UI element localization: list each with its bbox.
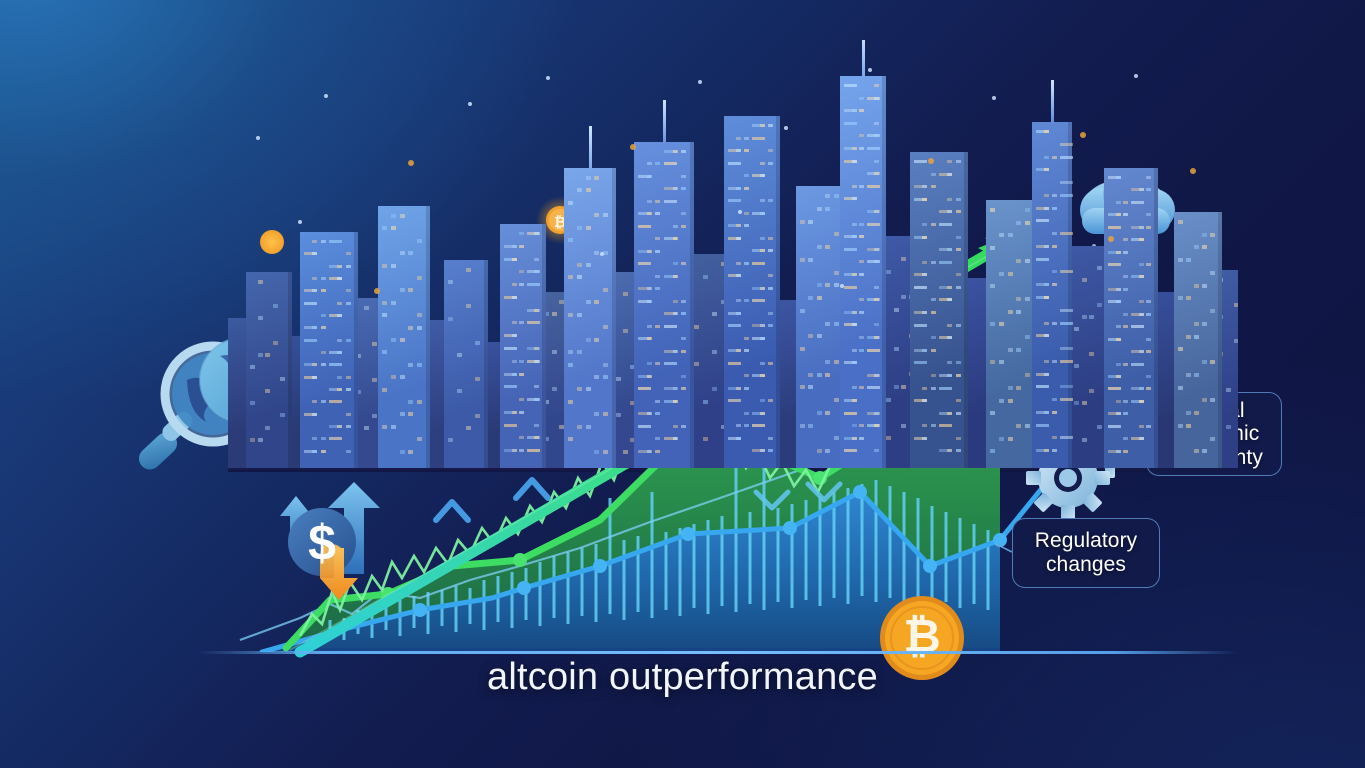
building-window [1044, 194, 1049, 197]
callout-regulatory-changes[interactable]: Regulatory changes [1012, 518, 1160, 588]
building-window [372, 414, 377, 418]
building-window [265, 353, 270, 357]
building-window [894, 308, 899, 312]
building-window [931, 298, 936, 301]
building-window [1108, 425, 1121, 428]
building-window [647, 162, 652, 165]
building-window [834, 436, 839, 440]
building-window [728, 162, 741, 165]
building-window [825, 373, 830, 377]
building-window [512, 360, 517, 363]
building-window [752, 137, 765, 140]
building-spire [663, 100, 666, 144]
building-window [586, 263, 591, 267]
building-window [736, 149, 741, 152]
building-window [1139, 263, 1144, 266]
building-window [859, 424, 864, 427]
building-window [568, 275, 573, 279]
building-window [1194, 322, 1199, 326]
building-window [760, 412, 765, 415]
building-window [947, 324, 952, 327]
building-window [417, 437, 422, 441]
building-window [760, 324, 765, 327]
building-window [655, 275, 660, 278]
building-window [817, 334, 822, 338]
building-window [1146, 350, 1151, 353]
star-dot [784, 126, 788, 130]
building-window [1052, 194, 1057, 197]
building-window [844, 412, 857, 415]
building-window [834, 398, 839, 402]
building-window [947, 210, 952, 213]
building-window [457, 353, 462, 357]
building-window [1139, 300, 1144, 303]
building-window [956, 437, 961, 440]
building-window [568, 350, 573, 354]
building-spire [862, 40, 865, 78]
building-window [728, 362, 741, 365]
building-window [594, 213, 599, 217]
building-window [603, 213, 608, 217]
building-window [760, 199, 765, 202]
building-window [800, 258, 805, 262]
building-window [512, 258, 517, 261]
building [796, 186, 846, 468]
building-window [1016, 424, 1021, 428]
building-window [834, 271, 839, 275]
building-window [834, 283, 839, 287]
building-window [400, 338, 405, 342]
building-window [744, 412, 749, 415]
building-window [304, 302, 317, 305]
building-window [894, 347, 899, 351]
building-window [874, 172, 879, 175]
building-window [922, 223, 927, 226]
building-window [391, 226, 396, 230]
building-window [1186, 373, 1191, 377]
callout-reg-line1: Regulatory [1035, 529, 1138, 553]
building-window [1060, 436, 1073, 439]
building-window [1060, 385, 1073, 388]
building-window [519, 449, 524, 452]
building-window [768, 124, 773, 127]
building-window [736, 187, 741, 190]
building-window [519, 373, 524, 376]
building-window [1194, 245, 1199, 249]
star-dot [840, 284, 844, 288]
building-window [736, 349, 741, 352]
building-window [1016, 221, 1021, 225]
building-window [519, 321, 524, 324]
building-window [852, 361, 857, 364]
building-window [586, 387, 591, 391]
building-window [1186, 335, 1191, 339]
building-window [1139, 238, 1144, 241]
building-window [736, 274, 741, 277]
building-window [586, 425, 591, 429]
building-window [886, 436, 891, 440]
building-window [852, 160, 857, 163]
building-window [1008, 310, 1013, 314]
building-window [1044, 156, 1049, 159]
building-window [1025, 208, 1030, 212]
building-window [1146, 188, 1151, 191]
building-window [834, 232, 839, 236]
building-window [1202, 322, 1207, 326]
building-window [1202, 245, 1207, 249]
building-window [956, 399, 961, 402]
building-window [568, 363, 573, 367]
building-window [931, 374, 936, 377]
illustration-canvas: $ ₿ ₿ ₿ Evolving macroeconomic landscape… [0, 0, 1365, 768]
building-window [844, 286, 857, 289]
building-window [1044, 168, 1049, 171]
star-dot [1134, 74, 1138, 78]
building-window [859, 311, 864, 314]
building-window [655, 200, 660, 203]
building-window [874, 374, 879, 377]
building-window [1060, 181, 1073, 184]
building-window [681, 387, 686, 390]
building-window [391, 301, 396, 305]
building-window [321, 437, 326, 440]
building-window [466, 304, 471, 308]
building-window [312, 437, 317, 440]
building-window [534, 232, 539, 235]
building-window [337, 277, 342, 280]
building-window [744, 224, 749, 227]
building-window [519, 436, 524, 439]
building-window [736, 299, 741, 302]
building-window [1194, 373, 1199, 377]
building-window [1234, 303, 1238, 307]
building-window [1060, 194, 1073, 197]
building-window [760, 399, 765, 402]
building-window [623, 292, 628, 296]
building-window [760, 362, 765, 365]
building-window [280, 413, 285, 417]
building-window [638, 262, 651, 265]
building-window [586, 300, 591, 304]
building-window [568, 313, 573, 317]
building-window [736, 137, 741, 140]
building-window [956, 449, 961, 452]
building-window [329, 400, 342, 403]
building-window [859, 97, 864, 100]
building-window [817, 373, 822, 377]
building-window [1060, 360, 1073, 363]
building-window [512, 334, 517, 337]
building-window [655, 450, 660, 453]
building [910, 152, 968, 468]
building-window [273, 304, 278, 308]
building-window [874, 412, 879, 415]
building-window [1202, 233, 1207, 237]
building-window [874, 248, 879, 251]
building-window [382, 425, 387, 429]
building-window [886, 270, 891, 274]
building-window [1139, 275, 1144, 278]
building-window [859, 134, 864, 137]
building-window [999, 399, 1004, 403]
building-window [534, 270, 539, 273]
building-window [1139, 313, 1144, 316]
building-window [655, 437, 660, 440]
building-window [1146, 425, 1151, 428]
building-window [623, 450, 628, 454]
svg-text:$: $ [308, 515, 336, 571]
building-window [673, 350, 678, 353]
building-window [534, 347, 539, 350]
building-window [673, 425, 678, 428]
star-dot [992, 96, 996, 100]
building-window [1116, 412, 1121, 415]
building-window [448, 317, 453, 321]
building-window [867, 386, 880, 389]
building-window [512, 321, 517, 324]
building-window [1008, 399, 1013, 403]
building [724, 116, 780, 468]
building-window [1178, 347, 1183, 351]
building-window [768, 162, 773, 165]
star-dot [928, 158, 934, 164]
building-window [673, 237, 678, 240]
building-window [859, 235, 864, 238]
building-window [931, 424, 936, 427]
building-window [874, 122, 879, 125]
building-window [914, 361, 927, 364]
building-window [694, 325, 699, 329]
building-window [408, 450, 413, 454]
building-window [1008, 437, 1013, 441]
building-window [808, 258, 813, 262]
building-window [382, 388, 387, 392]
building-window [1060, 347, 1073, 350]
building-window [1123, 325, 1128, 328]
star-dot [374, 288, 380, 294]
building-window [852, 109, 857, 112]
building-window [250, 401, 255, 405]
building-window [534, 424, 539, 427]
building-window [312, 326, 317, 329]
building-window [1052, 245, 1057, 248]
building-window [922, 424, 927, 427]
building-window [534, 258, 539, 261]
building-window [1146, 338, 1151, 341]
building-window [337, 339, 342, 342]
building-window [655, 237, 660, 240]
building-window [852, 437, 857, 440]
building-window [852, 147, 857, 150]
building-window [475, 414, 480, 418]
building-window [760, 374, 765, 377]
building-window [947, 336, 952, 339]
building-window [947, 248, 952, 251]
building-window [931, 349, 936, 352]
building-window [867, 147, 880, 150]
building-window [364, 306, 369, 310]
building-window [744, 137, 749, 140]
building-window [1123, 213, 1128, 216]
building-window [1025, 221, 1030, 225]
building-window [956, 324, 961, 327]
building-window [1116, 251, 1121, 254]
building-window [1116, 288, 1121, 291]
building-window [408, 412, 413, 416]
building-window [744, 374, 749, 377]
building-window [372, 378, 377, 382]
building-window [337, 376, 342, 379]
building-window [736, 312, 741, 315]
building-window [1074, 327, 1079, 331]
building-window [1025, 297, 1030, 301]
building-window [408, 288, 413, 292]
building-window [647, 200, 652, 203]
building-window [337, 351, 342, 354]
building-window [664, 162, 677, 165]
building-window [504, 424, 517, 427]
building-window [512, 411, 517, 414]
building-window [655, 325, 660, 328]
building-window [1202, 284, 1207, 288]
building-window [1202, 449, 1207, 453]
building-window [1036, 385, 1049, 388]
building-window [922, 261, 927, 264]
building-window [922, 273, 927, 276]
building-window [744, 149, 749, 152]
building-window [1060, 309, 1073, 312]
building-window [504, 385, 517, 388]
building-window [1082, 438, 1087, 442]
building-window [638, 225, 651, 228]
building-window [922, 437, 927, 440]
building-window [346, 376, 351, 379]
building-window [1131, 201, 1144, 204]
building-window [768, 149, 773, 152]
building-window [519, 232, 524, 235]
building-window [1116, 213, 1121, 216]
building-window [1123, 201, 1128, 204]
callout-reg-line2: changes [1035, 553, 1138, 577]
building-window [874, 424, 879, 427]
building-window [1060, 322, 1073, 325]
building-window [922, 399, 927, 402]
building-window [817, 411, 822, 415]
building-window [825, 194, 830, 198]
building [378, 206, 430, 468]
building-window [673, 187, 678, 190]
star-dot [630, 144, 636, 150]
building-window [844, 248, 857, 251]
building-spire [589, 126, 592, 170]
building-window [346, 450, 351, 453]
building-window [1139, 387, 1144, 390]
building-window [647, 412, 652, 415]
building-window [1008, 233, 1013, 237]
building-window [512, 283, 517, 286]
building-window [768, 437, 773, 440]
building-window [947, 374, 952, 377]
building-window [1052, 322, 1057, 325]
building-window [1052, 270, 1057, 273]
building-window [768, 362, 773, 365]
building-window [1139, 188, 1144, 191]
building-window [681, 262, 686, 265]
building-window [647, 175, 652, 178]
building-window [859, 437, 864, 440]
building-window [417, 363, 422, 367]
building-window [760, 237, 765, 240]
building-window [337, 265, 342, 268]
building-window [844, 84, 857, 87]
building-window [1044, 245, 1049, 248]
building-window [1108, 226, 1121, 229]
building-window [1074, 401, 1079, 405]
building-window [922, 387, 927, 390]
building-window [655, 250, 660, 253]
building-window [258, 316, 263, 320]
building-window [603, 325, 608, 329]
building-window [956, 361, 961, 364]
building-window [616, 413, 621, 417]
building-window [586, 188, 591, 192]
building-window [1082, 315, 1087, 319]
building-window [391, 264, 396, 268]
building-window [258, 438, 263, 442]
building-window [1044, 360, 1049, 363]
building-window [321, 277, 326, 280]
star-dot [600, 252, 604, 256]
building-window [382, 264, 387, 268]
building-window [874, 97, 879, 100]
building-window [808, 296, 813, 300]
building-window [346, 388, 351, 391]
building-window [577, 313, 582, 317]
building-window [512, 296, 517, 299]
building-window [1178, 220, 1183, 224]
building-window [712, 312, 717, 316]
building-window [647, 362, 652, 365]
building-window [1052, 207, 1057, 210]
building-window [859, 260, 864, 263]
star-dot [408, 160, 414, 166]
building-window [760, 337, 765, 340]
building-window [312, 252, 317, 255]
building-window [1008, 348, 1013, 352]
building-window [825, 207, 830, 211]
building-window [1097, 303, 1102, 307]
building-window [382, 313, 387, 317]
building-window [577, 275, 582, 279]
building-window [408, 251, 413, 255]
building-window [931, 336, 936, 339]
building-window [312, 277, 317, 280]
building-window [768, 324, 773, 327]
building-window [1060, 232, 1073, 235]
building-window [712, 350, 717, 354]
building-window [346, 252, 351, 255]
building-window [956, 236, 961, 239]
building-window [1044, 322, 1049, 325]
building-window [1052, 283, 1057, 286]
building-window [1123, 363, 1128, 366]
building-window [1139, 226, 1144, 229]
building-window [681, 175, 686, 178]
building-window [273, 341, 278, 345]
building-window [647, 375, 652, 378]
building-window [417, 313, 422, 317]
building-window [655, 412, 660, 415]
